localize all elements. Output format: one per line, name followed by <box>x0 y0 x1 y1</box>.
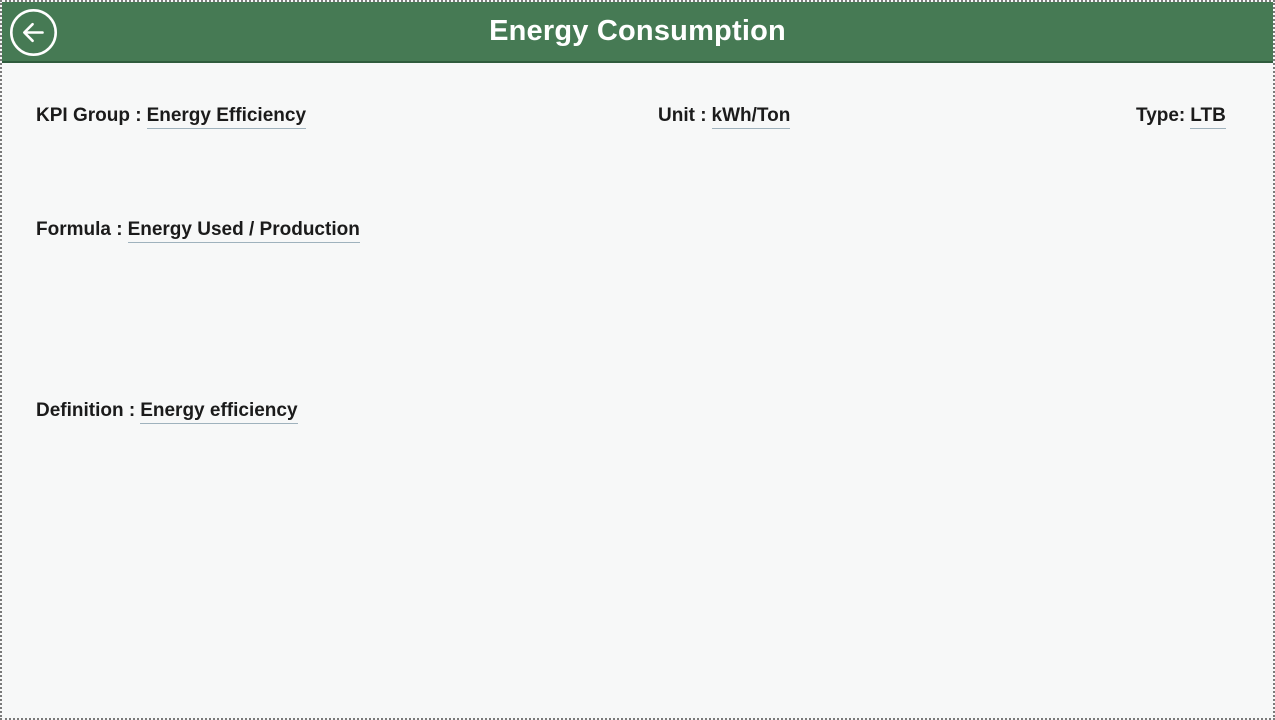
circle-arrow-left-icon <box>9 8 58 57</box>
field-formula: Formula : Energy Used / Production <box>36 220 360 243</box>
field-kpi-group: KPI Group : Energy Efficiency <box>36 106 306 129</box>
unit-label: Unit : <box>658 106 707 125</box>
back-button[interactable] <box>9 8 58 57</box>
definition-value[interactable]: Energy efficiency <box>140 401 297 424</box>
field-type: Type: LTB <box>1136 106 1226 129</box>
field-unit: Unit : kWh/Ton <box>658 106 790 129</box>
field-definition: Definition : Energy efficiency <box>36 401 298 424</box>
detail-body: KPI Group : Energy Efficiency Unit : kWh… <box>2 63 1273 718</box>
formula-label: Formula : <box>36 220 123 239</box>
type-label: Type: <box>1136 106 1185 125</box>
kpi-group-value[interactable]: Energy Efficiency <box>147 106 306 129</box>
definition-label: Definition : <box>36 401 135 420</box>
kpi-detail-screen: Energy Consumption KPI Group : Energy Ef… <box>0 0 1275 720</box>
kpi-group-label: KPI Group : <box>36 106 142 125</box>
type-value[interactable]: LTB <box>1190 106 1226 129</box>
unit-value[interactable]: kWh/Ton <box>712 106 791 129</box>
page-title: Energy Consumption <box>489 17 786 46</box>
app-header: Energy Consumption <box>2 2 1273 63</box>
formula-value[interactable]: Energy Used / Production <box>128 220 360 243</box>
